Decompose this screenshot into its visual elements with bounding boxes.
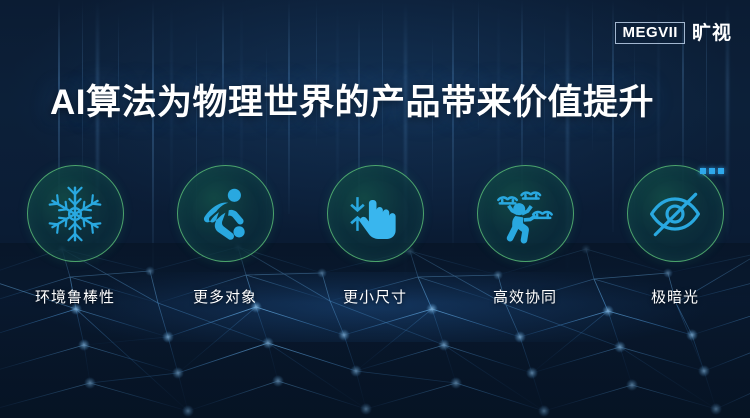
feature-label: 更小尺寸 [343, 286, 407, 307]
feature-item[interactable]: 极暗光 [600, 165, 750, 307]
decorative-dot [700, 168, 706, 174]
feature-icon-circle [327, 165, 424, 262]
decorative-dot [709, 168, 715, 174]
feature-icon-circle [27, 165, 124, 262]
brand-wordmark: MEGVII [615, 22, 685, 44]
person-drones-icon [494, 183, 556, 245]
feature-list: 环境鲁棒性 更多对象 [0, 165, 750, 307]
feature-label: 更多对象 [193, 286, 257, 307]
decorative-dots [700, 168, 724, 174]
feature-icon-circle [177, 165, 274, 262]
feature-label: 极暗光 [651, 286, 699, 307]
feature-icon-circle [477, 165, 574, 262]
slide-canvas: MEGVII 旷视 AI算法为物理世界的产品带来价值提升 [0, 0, 750, 418]
feature-item[interactable]: 更小尺寸 [300, 165, 450, 307]
brand-name-cn: 旷视 [692, 24, 732, 43]
feature-item[interactable]: 高效协同 [450, 165, 600, 307]
eye-slash-icon [645, 184, 705, 244]
feature-item[interactable]: 环境鲁棒性 [0, 165, 150, 307]
snowflake-icon [45, 184, 105, 244]
running-person-ball-icon [195, 184, 255, 244]
feature-item[interactable]: 更多对象 [150, 165, 300, 307]
feature-label: 环境鲁棒性 [35, 286, 115, 307]
brand-logo: MEGVII 旷视 [615, 22, 732, 44]
feature-icon-circle [627, 165, 724, 262]
feature-label: 高效协同 [493, 286, 557, 307]
decorative-dot [718, 168, 724, 174]
page-title: AI算法为物理世界的产品带来价值提升 [50, 74, 654, 125]
pinch-hand-icon [345, 184, 405, 244]
